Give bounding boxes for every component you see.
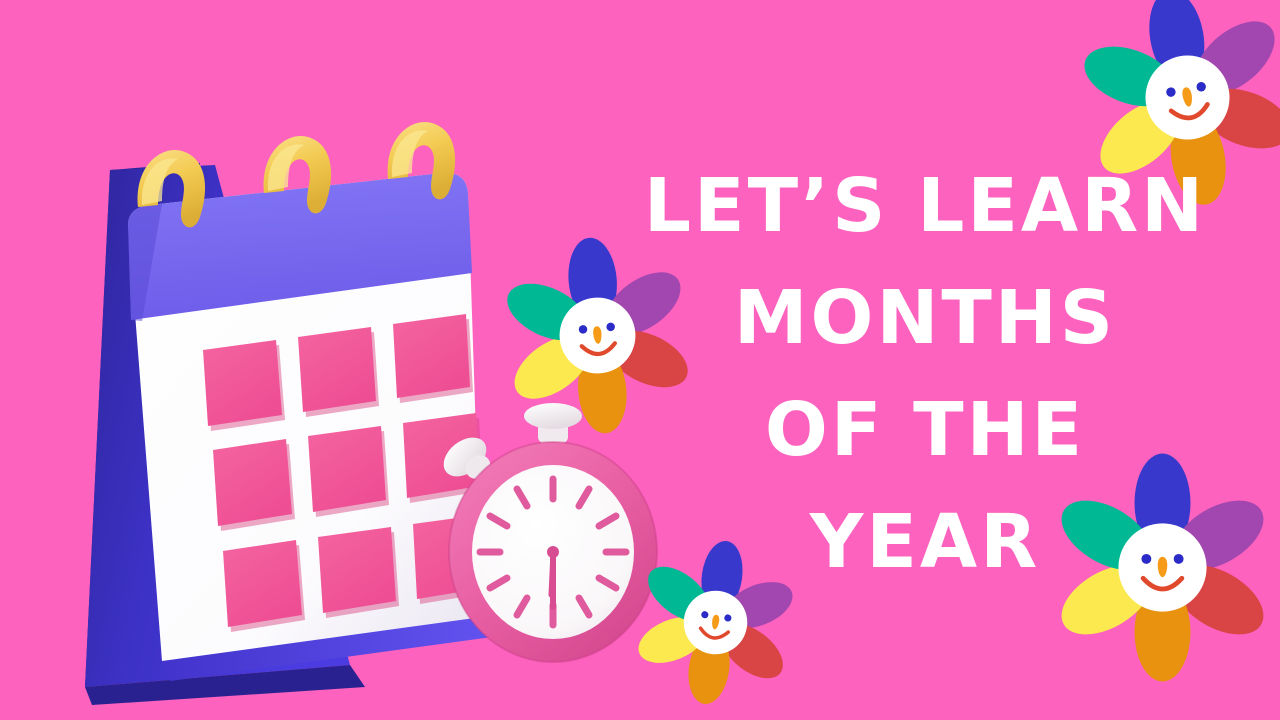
flower-bottom-mid	[638, 545, 793, 700]
day-cell	[318, 527, 399, 618]
stopwatch-illustration	[440, 395, 670, 670]
day-cell	[203, 340, 285, 431]
day-cell	[223, 540, 305, 632]
day-cell	[298, 327, 379, 417]
slide-canvas: LET’S LEARN MONTHS OF THE YEAR	[0, 0, 1280, 720]
day-cell	[213, 439, 295, 531]
title-line-2: MONTHS	[600, 262, 1250, 374]
day-cell	[393, 314, 473, 403]
flower-top-right	[1085, 0, 1280, 200]
day-cell	[308, 426, 389, 517]
flower-eye-right	[1174, 554, 1184, 564]
flower-bottom-right	[1055, 460, 1270, 675]
flower-mid-left	[505, 243, 690, 428]
flower-eye-left	[1141, 554, 1151, 564]
